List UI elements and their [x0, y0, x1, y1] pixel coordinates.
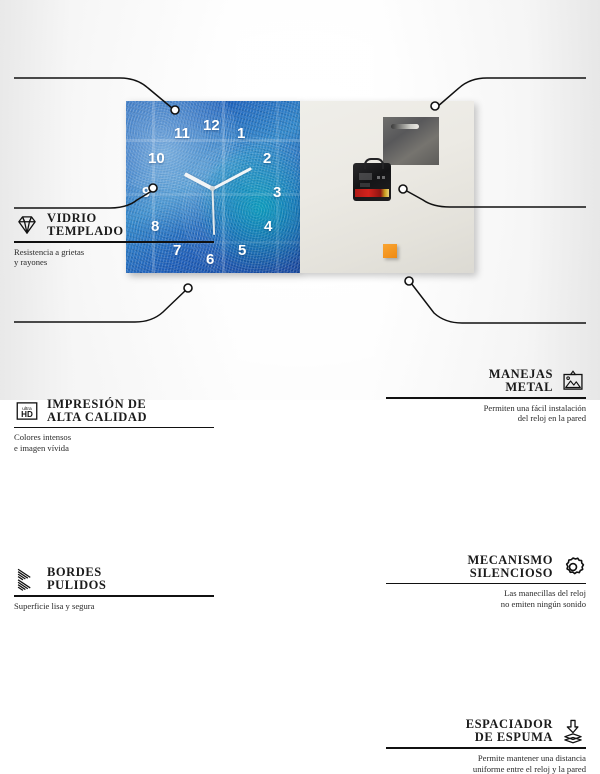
callout-title-line2: ALTA CALIDAD [47, 411, 147, 424]
callout-bordes-pulidos[interactable]: BORDES PULIDOS Superficie lisa y segura [14, 566, 214, 611]
callout-subtitle-line2: e imagen vívida [14, 443, 214, 454]
callout-title-line2: SILENCIOSO [467, 567, 553, 580]
callout-header: VIDRIO TEMPLADO [14, 212, 214, 238]
callout-header: ultra HD IMPRESIÓN DE ALTA CALIDAD [14, 398, 214, 424]
callout-divider [14, 241, 214, 243]
callout-divider [14, 427, 214, 429]
svg-text:HD: HD [21, 410, 33, 419]
hanger-slot [391, 124, 419, 129]
clock-numeral: 5 [238, 243, 246, 258]
callout-title-line1: ESPACIADOR [466, 718, 553, 731]
callout-subtitle-line1: Resistencia a grietas [14, 247, 214, 258]
clock-numeral: 12 [203, 118, 220, 133]
clock-numeral: 2 [263, 151, 271, 166]
polished-edges-icon [14, 566, 40, 592]
battery [355, 189, 389, 197]
framed-picture-icon [560, 368, 586, 394]
foam-spacer-icon [560, 718, 586, 744]
callout-title-line2: METAL [489, 381, 553, 394]
callout-subtitle-line2: del reloj en la pared [386, 413, 586, 424]
callout-subtitle-line1: Permite mantener una distancia [386, 753, 586, 764]
callout-subtitle-line1: Permiten una fácil instalación [386, 403, 586, 414]
callout-impresion-alta-calidad[interactable]: ultra HD IMPRESIÓN DE ALTA CALIDAD Color… [14, 398, 214, 454]
hanger-plate [383, 117, 439, 165]
clock-numeral: 4 [264, 219, 272, 234]
callout-manejas-metal[interactable]: MANEJAS METAL Permiten una fácil instala… [386, 368, 586, 424]
callout-subtitle-line1: Superficie lisa y segura [14, 601, 214, 612]
clock-back-panel [300, 101, 474, 273]
callout-subtitle-line2: no emiten ningún sonido [386, 599, 586, 610]
quartz-mechanism [353, 163, 391, 201]
callout-subtitle-line2: uniforme entre el reloj y la pared [386, 764, 586, 774]
callout-title-line1: BORDES [47, 566, 106, 579]
clock-numeral: 3 [273, 185, 281, 200]
callout-title-line2: PULIDOS [47, 579, 106, 592]
callout-divider [386, 747, 586, 749]
gear-icon [560, 554, 586, 580]
callout-title-line2: DE ESPUMA [466, 731, 553, 744]
callout-title-line2: TEMPLADO [47, 225, 124, 238]
callout-vidrio-templado[interactable]: VIDRIO TEMPLADO Resistencia a grietas y … [14, 212, 214, 268]
callout-subtitle-line1: Las manecillas del reloj [386, 588, 586, 599]
callout-header: ESPACIADOR DE ESPUMA [386, 718, 586, 744]
diamond-icon [14, 212, 40, 238]
callout-mecanismo-silencioso[interactable]: MECANISMO SILENCIOSO Las manecillas del … [386, 554, 586, 610]
foam-spacer [383, 244, 397, 258]
callout-title-line1: MECANISMO [467, 554, 553, 567]
clock-center-pivot [210, 186, 215, 191]
callout-header: MECANISMO SILENCIOSO [386, 554, 586, 580]
callout-header: MANEJAS METAL [386, 368, 586, 394]
callout-divider [14, 595, 214, 597]
mechanism-hook [364, 158, 384, 169]
infographic-canvas: 12 1 2 3 4 5 6 7 8 9 10 11 [0, 0, 600, 400]
callout-divider [386, 583, 586, 585]
callout-subtitle-line2: y rayones [14, 257, 214, 268]
clock-numeral: 10 [148, 151, 165, 166]
callout-espaciador-espuma[interactable]: ESPACIADOR DE ESPUMA Permite mantener un… [386, 718, 586, 774]
clock-numeral: 9 [142, 185, 150, 200]
clock-numeral: 11 [174, 126, 190, 141]
clock-numeral: 1 [237, 126, 245, 141]
callout-header: BORDES PULIDOS [14, 566, 214, 592]
callout-subtitle-line1: Colores intensos [14, 432, 214, 443]
ultra-hd-icon: ultra HD [14, 398, 40, 424]
callout-divider [386, 397, 586, 399]
